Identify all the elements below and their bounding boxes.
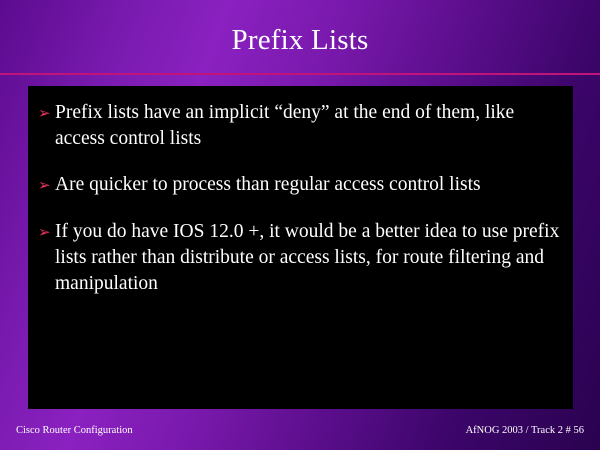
arrow-bullet-icon: ➢ <box>38 173 55 199</box>
list-item-text: Prefix lists have an implicit “deny” at … <box>55 100 561 152</box>
arrow-bullet-icon: ➢ <box>38 220 55 246</box>
list-item: ➢ Prefix lists have an implicit “deny” a… <box>38 100 561 152</box>
slide: Prefix Lists ➢ Prefix lists have an impl… <box>0 0 600 450</box>
list-item: ➢ If you do have IOS 12.0 +, it would be… <box>38 219 561 297</box>
arrow-bullet-icon: ➢ <box>38 101 55 127</box>
title-divider <box>0 73 600 75</box>
footer-right-text: AfNOG 2003 / Track 2 # 56 <box>466 425 584 436</box>
footer-left-text: Cisco Router Configuration <box>16 425 133 436</box>
list-item-text: If you do have IOS 12.0 +, it would be a… <box>55 219 561 297</box>
list-item: ➢ Are quicker to process than regular ac… <box>38 172 561 199</box>
list-item-text: Are quicker to process than regular acce… <box>55 172 561 198</box>
page-title: Prefix Lists <box>0 24 600 57</box>
content-panel: ➢ Prefix lists have an implicit “deny” a… <box>28 86 573 409</box>
